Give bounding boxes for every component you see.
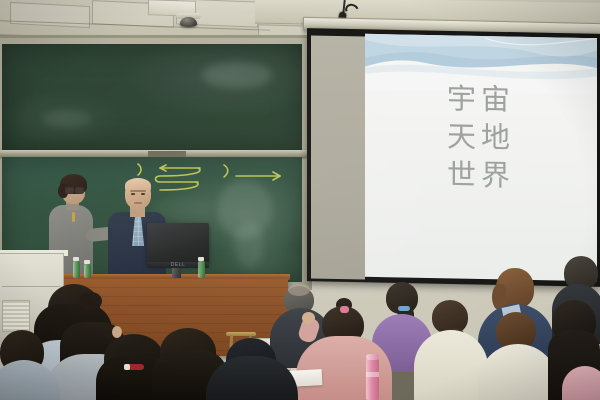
dome-camera-icon <box>180 17 197 27</box>
slide-line-3: 世界 <box>365 154 597 196</box>
thermos-cap[interactable] <box>366 354 379 360</box>
lecture-hall-photo: 宇宙 天地 世界 DELL <box>0 0 600 400</box>
man-brow <box>130 190 146 192</box>
eyeglasses-right-lens <box>75 187 84 194</box>
man-left-eye <box>131 193 135 195</box>
water-bottle[interactable] <box>73 261 80 279</box>
slide-line-1: 宇宙 <box>365 78 597 120</box>
cabinet-seam <box>2 286 60 287</box>
necklace-pendant <box>72 212 75 222</box>
thermos-band <box>366 372 379 377</box>
man-right-eye <box>141 193 145 195</box>
eyeglasses-left-lens <box>65 187 74 194</box>
presentation-slide: 宇宙 天地 世界 <box>365 34 597 281</box>
bottle-cap <box>73 257 79 261</box>
pink-thermos-cup[interactable] <box>366 358 379 400</box>
wooden-stool[interactable] <box>226 332 256 336</box>
man-mouth <box>134 202 142 204</box>
slide-line-2: 天地 <box>365 116 597 158</box>
bottle-cap <box>198 257 204 261</box>
water-bottle[interactable] <box>84 264 91 279</box>
blackboard-upper-panel <box>2 44 302 150</box>
cabinet-vent-grill <box>2 300 30 332</box>
water-bottle[interactable] <box>198 261 205 279</box>
projector-screen-unlit-band <box>311 35 365 279</box>
slide-text-block: 宇宙 天地 世界 <box>365 78 597 196</box>
bottle-cap <box>84 260 90 264</box>
chalk-diagram <box>130 162 290 204</box>
